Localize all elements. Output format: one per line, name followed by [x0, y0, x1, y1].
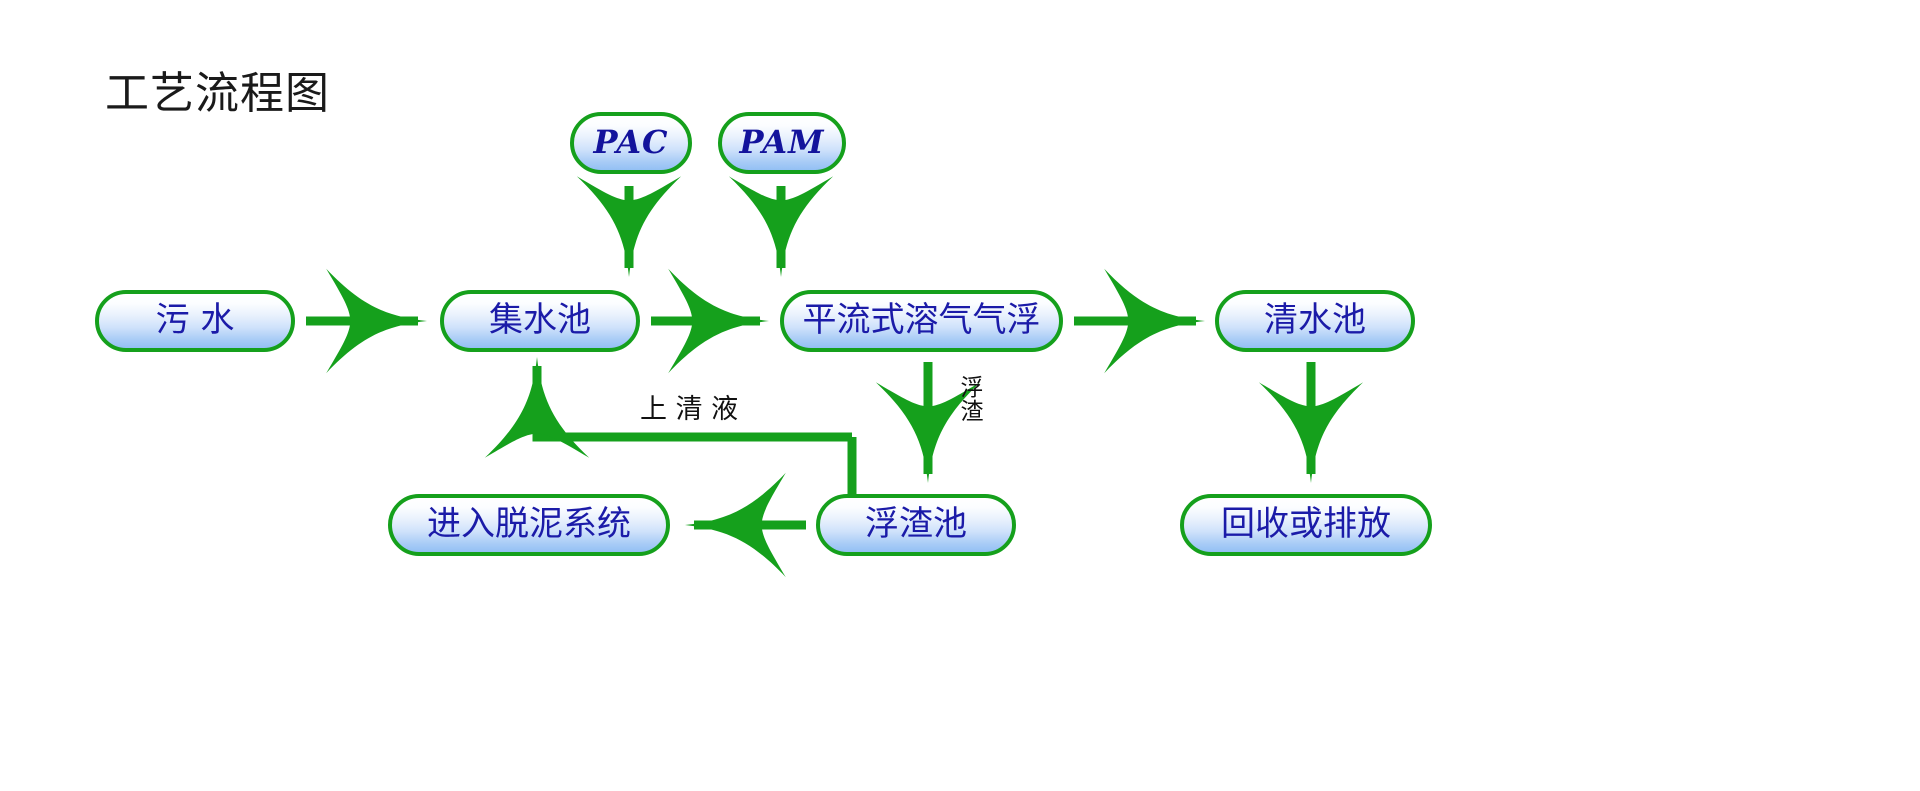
node-pac-label: PAC — [593, 126, 668, 158]
node-pac[interactable]: PAC — [570, 112, 692, 174]
page-title: 工艺流程图 — [105, 72, 330, 116]
node-sewage-label: 污 水 — [156, 303, 235, 337]
node-sludge-system[interactable]: 进入脱泥系统 — [388, 494, 670, 556]
node-daf[interactable]: 平流式溶气气浮 — [780, 290, 1063, 352]
node-pam[interactable]: PAM — [718, 112, 846, 174]
node-daf-label: 平流式溶气气浮 — [803, 303, 1041, 337]
node-sludge-system-label: 进入脱泥系统 — [427, 507, 631, 541]
node-scum-tank[interactable]: 浮渣池 — [816, 494, 1016, 556]
node-reuse-or-discharge-label: 回收或排放 — [1221, 507, 1391, 541]
flowchart-canvas: 工艺流程图 PAC PAM 污 水 集水池 平流式溶气 — [0, 0, 1920, 791]
edge-label-supernatant: 上 清 液 — [640, 396, 738, 424]
node-sewage[interactable]: 污 水 — [95, 290, 295, 352]
node-clear-water-tank[interactable]: 清水池 — [1215, 290, 1415, 352]
node-clear-water-tank-label: 清水池 — [1264, 303, 1366, 337]
node-scum-tank-label: 浮渣池 — [865, 507, 967, 541]
edge-label-scum: 浮渣 — [957, 375, 980, 423]
node-collection-tank[interactable]: 集水池 — [440, 290, 640, 352]
node-collection-tank-label: 集水池 — [489, 303, 591, 337]
node-pam-label: PAM — [740, 126, 825, 158]
node-reuse-or-discharge[interactable]: 回收或排放 — [1180, 494, 1432, 556]
